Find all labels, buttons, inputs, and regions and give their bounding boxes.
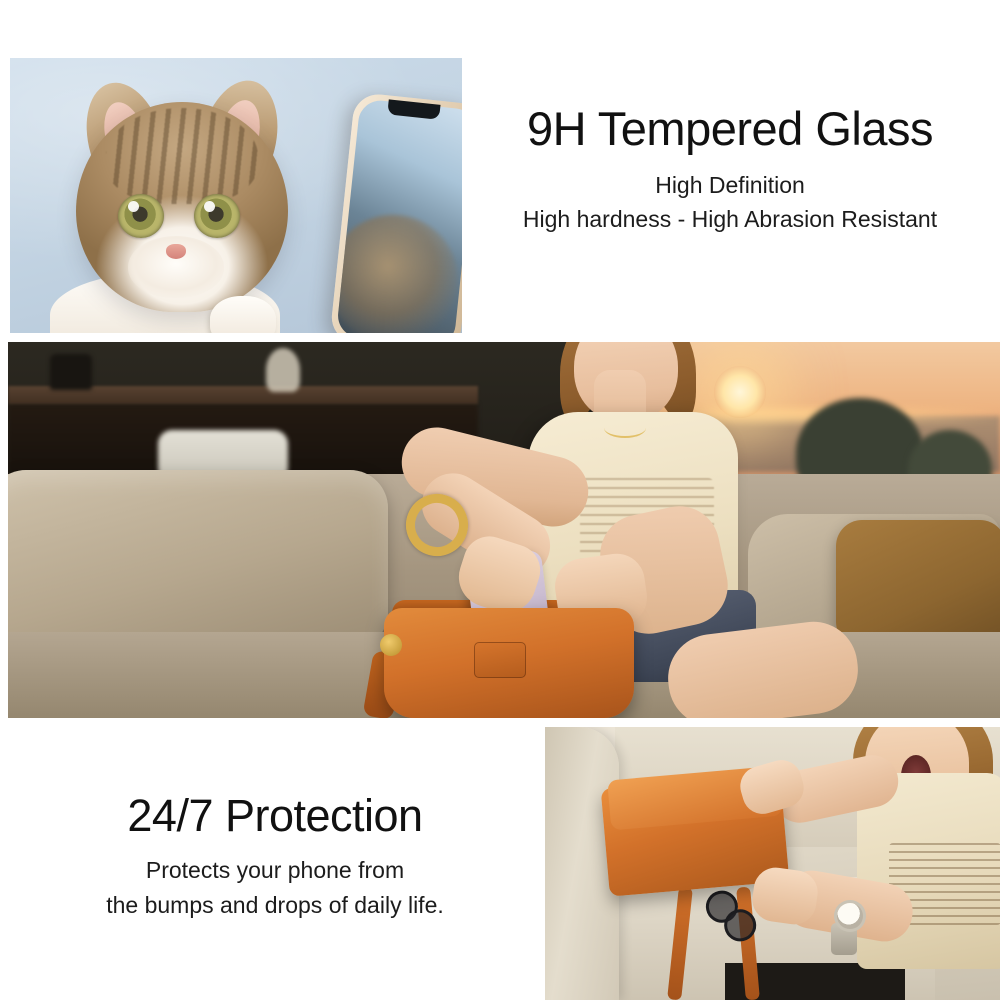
- bag-spill-photo: [545, 727, 1000, 1000]
- cat-phone-photo: [10, 58, 462, 333]
- tan-throw-pillow: [836, 520, 1000, 648]
- protection-headline: 24/7 Protection: [40, 792, 510, 839]
- woman-phone-bag-photo: [8, 342, 1000, 718]
- setting-sun: [714, 366, 766, 418]
- tempered-glass-headline: 9H Tempered Glass: [470, 104, 990, 153]
- cat-forehead-stripes: [106, 108, 258, 204]
- shelf-object-dark: [50, 354, 92, 390]
- handbag-logo-tab: [474, 642, 526, 678]
- tempered-glass-subline-2: High hardness - High Abrasion Resistant: [470, 203, 990, 236]
- screen-cat-reflection: [336, 208, 462, 333]
- cat-left-eye: [118, 194, 164, 238]
- infographic-canvas: 9H Tempered Glass High Definition High h…: [0, 0, 1000, 1000]
- protection-subline-1: Protects your phone from: [40, 853, 510, 888]
- shelf-object-light: [266, 348, 300, 392]
- protection-subline-2: the bumps and drops of daily life.: [40, 888, 510, 923]
- woman-necklace: [604, 418, 646, 438]
- wristwatch-face: [837, 903, 863, 929]
- tempered-glass-text-block: 9H Tempered Glass High Definition High h…: [470, 104, 990, 236]
- tempered-glass-subline-1: High Definition: [470, 169, 990, 202]
- handbag-zipper-pull: [380, 634, 402, 656]
- cat-paw: [210, 296, 276, 333]
- protection-text-block: 24/7 Protection Protects your phone from…: [40, 792, 510, 922]
- cat-right-eye: [194, 194, 240, 238]
- cat-nose: [166, 244, 186, 259]
